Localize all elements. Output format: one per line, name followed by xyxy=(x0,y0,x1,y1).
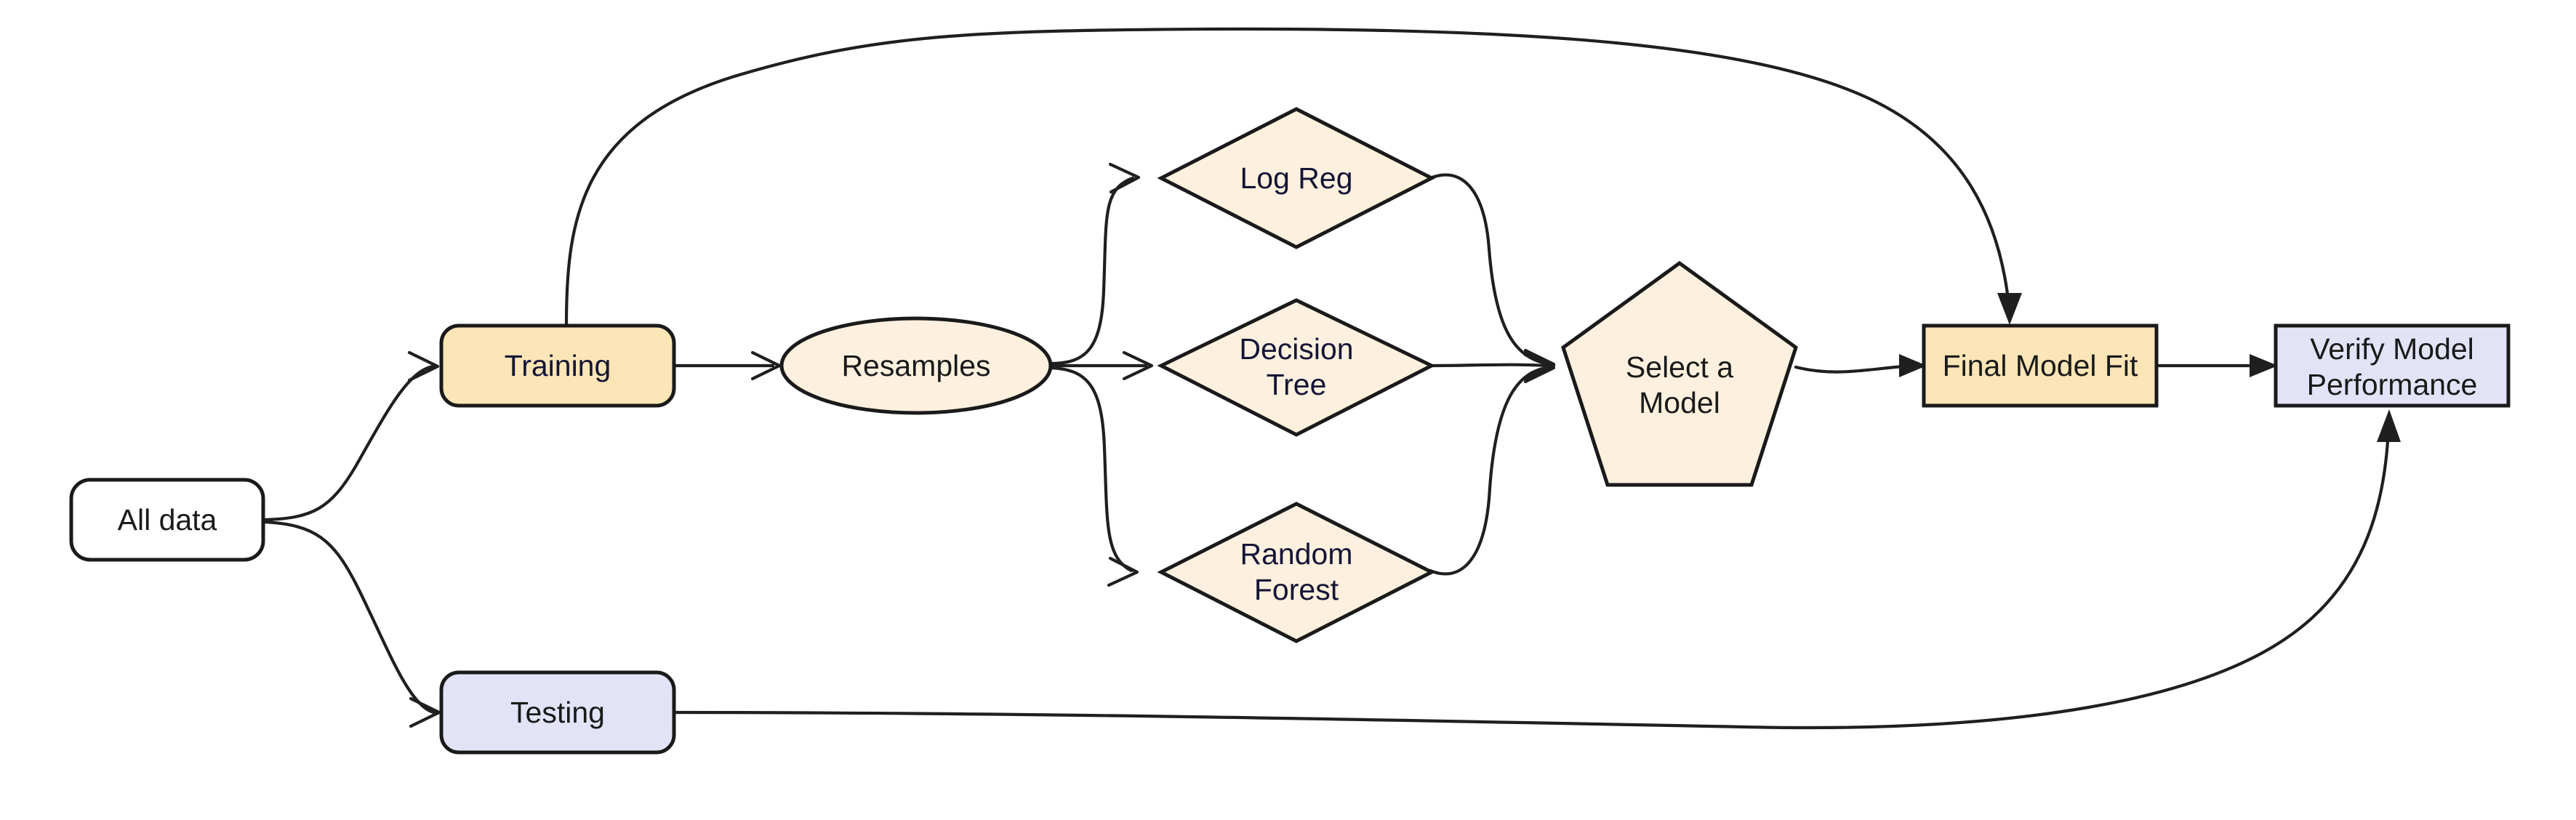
flowchart-svg: All data Training Testing Resamples Log … xyxy=(0,0,2576,820)
verify-model-performance-label-line2: Performance xyxy=(2307,368,2478,401)
node-training[interactable]: Training xyxy=(441,326,674,406)
diagram-canvas: All data Training Testing Resamples Log … xyxy=(0,0,2576,820)
edge-resamples-to-decision-tree xyxy=(1051,353,1152,379)
node-log-reg[interactable]: Log Reg xyxy=(1161,109,1432,247)
edge-resamples-to-random-forest xyxy=(1051,368,1137,585)
decision-tree-label-line2: Tree xyxy=(1267,368,1327,401)
edge-all-data-to-training xyxy=(265,353,438,520)
select-model-label-line1: Select a xyxy=(1626,350,1733,384)
training-label: Training xyxy=(505,349,611,382)
random-forest-label-line1: Random xyxy=(1240,537,1353,571)
random-forest-label-line2: Forest xyxy=(1254,573,1339,606)
all-data-label: All data xyxy=(118,503,217,536)
node-all-data[interactable]: All data xyxy=(71,480,263,560)
node-random-forest[interactable]: Random Forest xyxy=(1161,504,1432,641)
resamples-label: Resamples xyxy=(841,349,990,382)
testing-label: Testing xyxy=(510,696,605,729)
node-layer: All data Training Testing Resamples Log … xyxy=(71,109,2508,752)
node-testing[interactable]: Testing xyxy=(441,672,674,752)
edge-log-reg-to-select-model xyxy=(1430,175,1554,378)
verify-model-performance-label-line1: Verify Model xyxy=(2310,332,2474,366)
final-model-fit-label: Final Model Fit xyxy=(1943,349,2138,382)
log-reg-label: Log Reg xyxy=(1240,161,1352,195)
select-model-label-line2: Model xyxy=(1639,386,1720,419)
edge-select-model-to-final-model-fit xyxy=(1796,354,1927,377)
node-decision-tree[interactable]: Decision Tree xyxy=(1161,300,1432,435)
edge-all-data-to-testing xyxy=(265,522,439,726)
node-final-model-fit[interactable]: Final Model Fit xyxy=(1924,326,2156,406)
decision-tree-label-line1: Decision xyxy=(1239,332,1353,366)
edge-random-forest-to-select-model xyxy=(1430,355,1554,574)
edge-testing-to-verify xyxy=(674,409,2401,728)
node-verify-model-performance[interactable]: Verify Model Performance xyxy=(2276,326,2508,406)
edge-final-model-fit-to-verify xyxy=(2156,354,2278,377)
edge-training-to-resamples xyxy=(674,353,779,379)
node-select-model[interactable]: Select a Model xyxy=(1563,263,1796,485)
node-resamples[interactable]: Resamples xyxy=(782,318,1051,413)
edge-resamples-to-log-reg xyxy=(1051,164,1139,363)
